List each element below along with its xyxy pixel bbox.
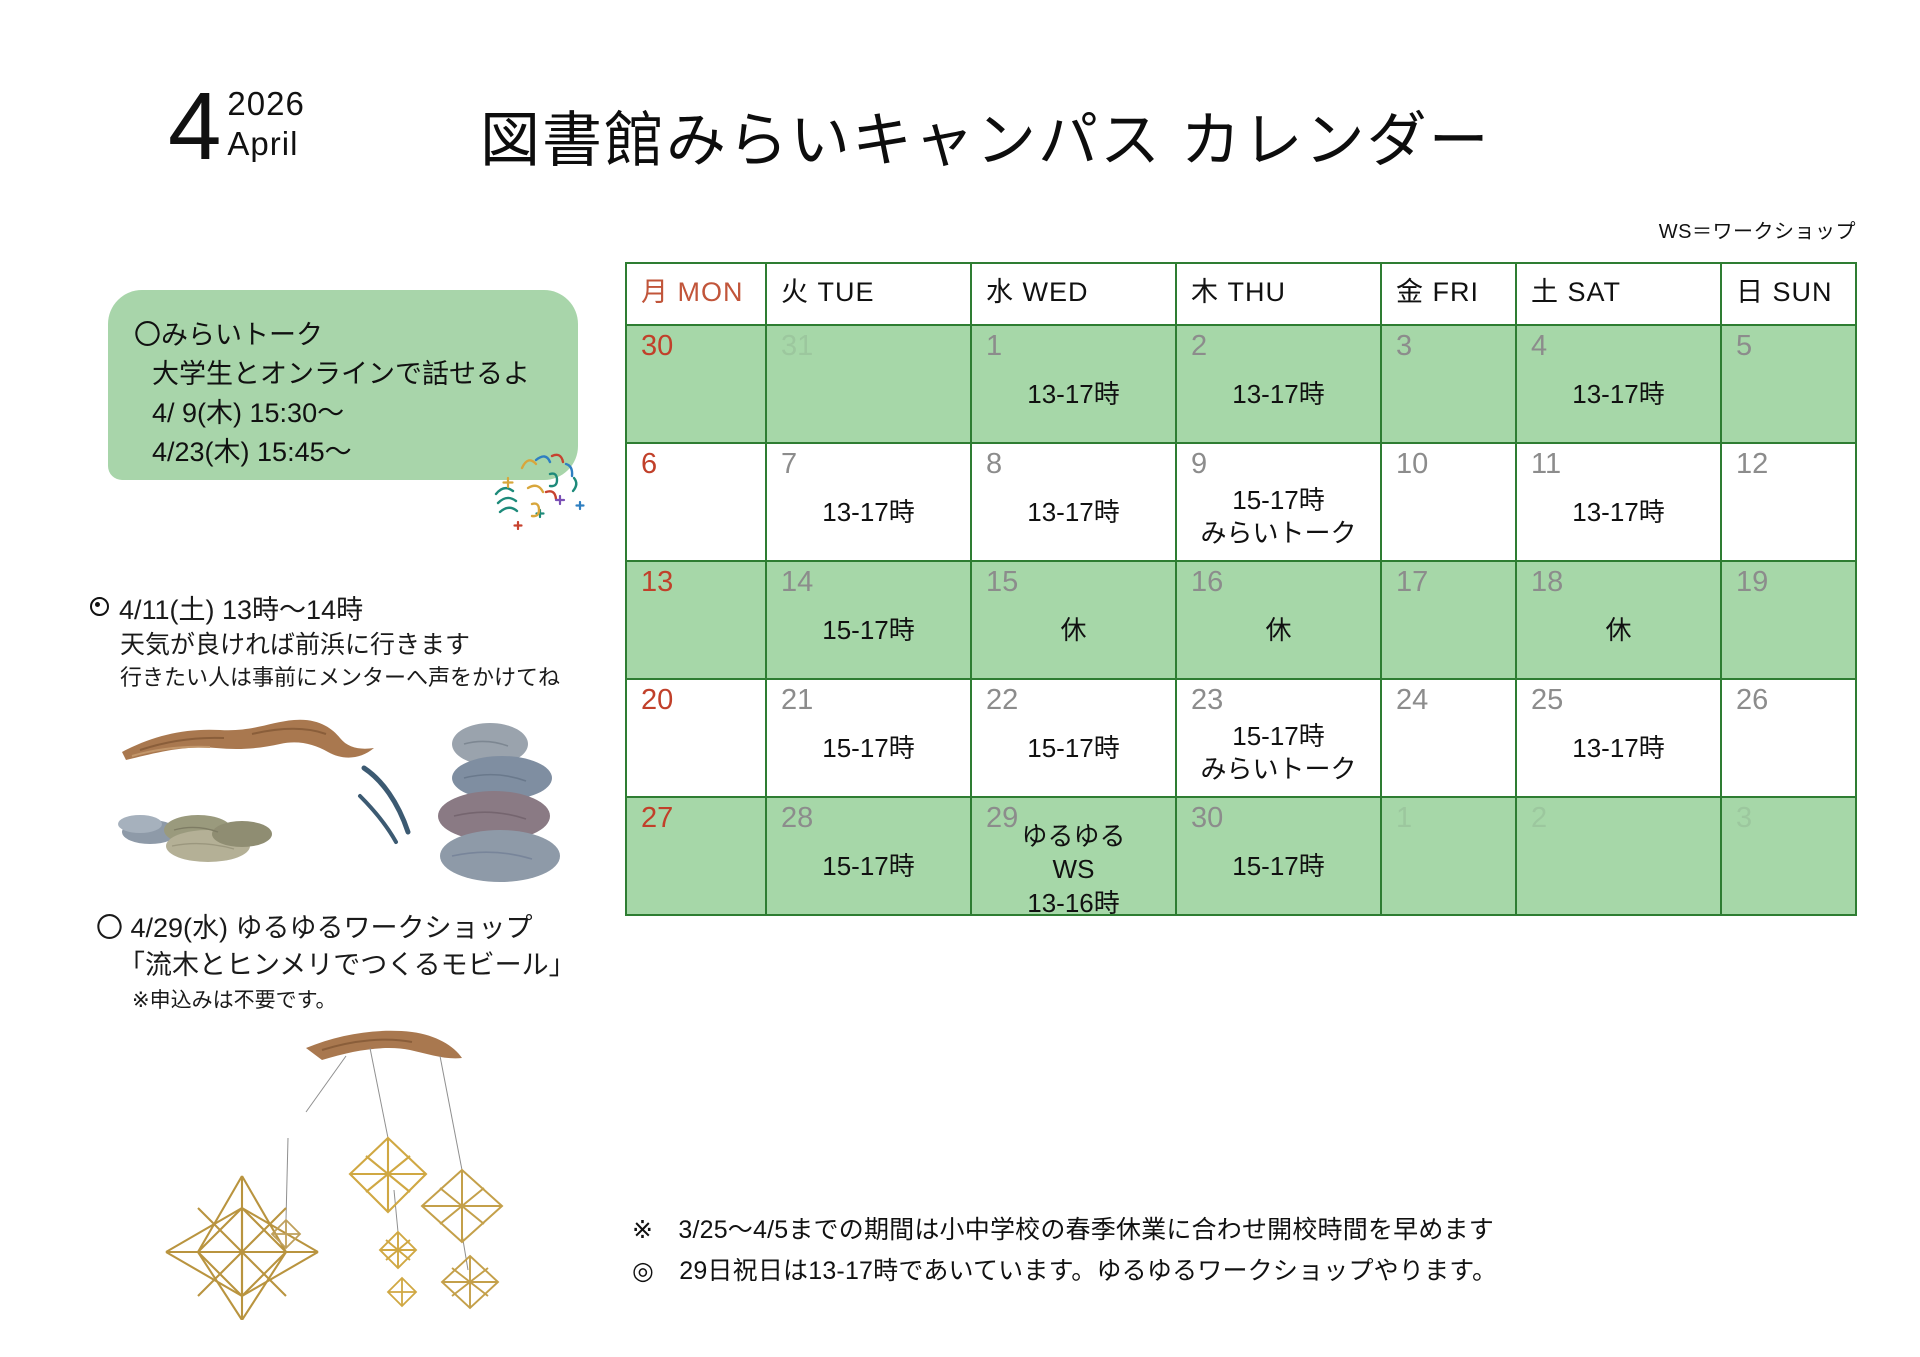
calendar-day-cell[interactable]: 213-17時 [1176, 325, 1381, 443]
weekday-header-tue: 火 TUE [766, 263, 971, 325]
day-event: 15-17時 [767, 850, 970, 883]
calendar-day-cell[interactable]: 6 [626, 443, 766, 561]
calendar-day-cell[interactable]: 24 [1381, 679, 1516, 797]
calendar-day-cell[interactable]: 5 [1721, 325, 1856, 443]
page-header: 4 2026 April 図書館みらいキャンパス カレンダー [0, 0, 1920, 200]
weekday-header-sat: 土 SAT [1516, 263, 1721, 325]
calendar-day-cell[interactable]: 20 [626, 679, 766, 797]
day-event-line: 15-17時 [773, 614, 964, 647]
calendar-day-cell[interactable]: 17 [1381, 561, 1516, 679]
calendar-week-row: 131415-17時15休16休1718休19 [626, 561, 1856, 679]
day-event: 休 [1177, 614, 1380, 647]
calendar-day-cell[interactable]: 2315-17時みらいトーク [1176, 679, 1381, 797]
calendar-week-row: 3031113-17時213-17時3413-17時5 [626, 325, 1856, 443]
calendar-day-cell[interactable]: 3015-17時 [1176, 797, 1381, 915]
driftwood-and-stones-illustration [112, 706, 572, 896]
day-event-line: 13-17時 [978, 378, 1169, 411]
month-name-label: April [227, 124, 304, 164]
day-event: 15-17時みらいトーク [1177, 720, 1380, 787]
day-event-line: 13-17時 [1523, 496, 1714, 529]
day-event-line: みらいトーク [1183, 753, 1374, 786]
day-event: 休 [1517, 614, 1720, 647]
day-event-line: 15-17時 [978, 732, 1169, 765]
day-event-line: 休 [1523, 614, 1714, 647]
day-event-line: 13-16時 [978, 887, 1169, 920]
day-event: 15-17時 [972, 732, 1175, 765]
day-number: 14 [781, 568, 813, 597]
calendar-day-cell[interactable]: 113-17時 [971, 325, 1176, 443]
day-number: 30 [1191, 804, 1223, 833]
day-number: 30 [641, 332, 673, 361]
calendar-day-cell[interactable]: 413-17時 [1516, 325, 1721, 443]
day-event-line: 休 [1183, 614, 1374, 647]
day-number: 5 [1736, 332, 1752, 361]
day-number: 3 [1396, 332, 1412, 361]
himmeli-mobile-illustration [110, 1020, 580, 1320]
weekday-header-mon: 月 MON [626, 263, 766, 325]
calendar-day-cell[interactable]: 915-17時みらいトーク [1176, 443, 1381, 561]
mirai-talk-desc: 大学生とオンラインで話せるよ [134, 355, 578, 394]
day-number: 16 [1191, 568, 1223, 597]
calendar-day-cell[interactable]: 1415-17時 [766, 561, 971, 679]
day-event: 15-17時 [767, 614, 970, 647]
day-event: 13-17時 [1517, 496, 1720, 529]
day-number: 19 [1736, 568, 1768, 597]
day-event: 15-17時 [1177, 850, 1380, 883]
calendar-day-cell[interactable]: 19 [1721, 561, 1856, 679]
footnote-line-2: ◎ 29日祝日は13-17時であいています。ゆるゆるワークショップやります。 [632, 1251, 1497, 1292]
day-event-line: 休 [978, 614, 1169, 647]
day-number: 9 [1191, 450, 1207, 479]
day-event: 13-17時 [1517, 732, 1720, 765]
day-event: 休 [972, 614, 1175, 647]
day-event-line: 15-17時 [773, 732, 964, 765]
day-number: 11 [1531, 450, 1561, 479]
day-number: 18 [1531, 568, 1563, 597]
day-number: 2 [1531, 804, 1547, 833]
calendar-day-cell[interactable]: 26 [1721, 679, 1856, 797]
day-event-line: 15-17時 [773, 850, 964, 883]
beach-outing-note: 行きたい人は事前にメンターへ声をかけてね [90, 663, 610, 694]
yuruyuru-workshop-block: 〇 4/29(水) ゆるゆるワークショップ 「流木とヒンメリでつくるモビール」 … [96, 910, 636, 1016]
day-number: 10 [1396, 450, 1428, 479]
calendar-footnotes: ※ 3/25〜4/5までの期間は小中学校の春季休業に合わせ開校時間を早めます ◎… [632, 1210, 1497, 1291]
calendar-day-cell[interactable]: 29ゆるゆるWS13-16時 [971, 797, 1176, 915]
month-english-block: 2026 April [227, 84, 304, 171]
workshop-note: ※申込みは不要です。 [96, 985, 636, 1017]
month-title-block: 4 2026 April [168, 84, 305, 171]
page-title: 図書館みらいキャンパス カレンダー [480, 92, 1491, 179]
day-number: 24 [1396, 686, 1428, 715]
day-number: 6 [641, 450, 657, 479]
day-event-line: 15-17時 [1183, 850, 1374, 883]
confetti-icon [488, 448, 592, 530]
mirai-talk-heading: 〇みらいトーク [134, 316, 578, 355]
beach-outing-block: 4/11(土) 13時〜14時 天気が良ければ前浜に行きます 行きたい人は事前に… [90, 592, 610, 694]
day-number: 4 [1531, 332, 1547, 361]
calendar-week-row: 272815-17時29ゆるゆるWS13-16時3015-17時123 [626, 797, 1856, 915]
weekday-header-sun: 日 SUN [1721, 263, 1856, 325]
weekday-header-fri: 金 FRI [1381, 263, 1516, 325]
day-event: 13-17時 [767, 496, 970, 529]
calendar-day-cell[interactable]: 2215-17時 [971, 679, 1176, 797]
calendar-day-cell[interactable]: 18休 [1516, 561, 1721, 679]
day-number: 8 [986, 450, 1002, 479]
year-label: 2026 [227, 84, 304, 124]
day-number: 21 [781, 686, 813, 715]
day-event-line: 15-17時 [1183, 484, 1374, 517]
calendar-day-cell[interactable]: 2815-17時 [766, 797, 971, 915]
bullseye-bullet-icon [90, 597, 109, 616]
day-number: 12 [1736, 450, 1768, 479]
calendar-week-row: 202115-17時2215-17時2315-17時みらいトーク242513-1… [626, 679, 1856, 797]
weekday-header-wed: 水 WED [971, 263, 1176, 325]
calendar-day-cell[interactable]: 2 [1516, 797, 1721, 915]
calendar-day-cell[interactable]: 713-17時 [766, 443, 971, 561]
calendar-day-cell[interactable]: 1 [1381, 797, 1516, 915]
day-event: 13-17時 [972, 496, 1175, 529]
calendar-day-cell[interactable]: 31 [766, 325, 971, 443]
day-number: 2 [1191, 332, 1207, 361]
day-event: 15-17時みらいトーク [1177, 484, 1380, 551]
day-event: 13-17時 [1517, 378, 1720, 411]
mirai-talk-date-1: 4/ 9(木) 15:30〜 [134, 394, 578, 433]
weekday-header-thu: 木 THU [1176, 263, 1381, 325]
day-event: 13-17時 [972, 378, 1175, 411]
day-event: ゆるゆるWS13-16時 [972, 820, 1175, 920]
calendar-day-cell[interactable]: 12 [1721, 443, 1856, 561]
beach-outing-date: 4/11(土) 13時〜14時 [119, 595, 363, 625]
day-event-line: WS [978, 853, 1169, 886]
day-number: 20 [641, 686, 673, 715]
day-number: 23 [1191, 686, 1223, 715]
day-event-line: ゆるゆる [978, 820, 1169, 853]
day-number: 28 [781, 804, 813, 833]
monthly-calendar: 月 MON 火 TUE 水 WED 木 THU 金 FRI 土 SAT 日 SU… [625, 262, 1857, 916]
calendar-day-cell[interactable]: 15休 [971, 561, 1176, 679]
day-event-line: 13-17時 [773, 496, 964, 529]
beach-outing-headline-row: 4/11(土) 13時〜14時 [90, 592, 610, 628]
day-event-line: 13-17時 [978, 496, 1169, 529]
footnote-line-1: ※ 3/25〜4/5までの期間は小中学校の春季休業に合わせ開校時間を早めます [632, 1210, 1497, 1251]
calendar-week-row: 6713-17時813-17時915-17時みらいトーク101113-17時12 [626, 443, 1856, 561]
workshop-headline: 〇 4/29(水) ゆるゆるワークショップ [96, 910, 636, 947]
day-number: 13 [641, 568, 673, 597]
day-number: 1 [986, 332, 1002, 361]
calendar-day-cell[interactable]: 1113-17時 [1516, 443, 1721, 561]
workshop-subtitle: 「流木とヒンメリでつくるモビール」 [96, 947, 636, 984]
day-number: 26 [1736, 686, 1768, 715]
day-number: 27 [641, 804, 673, 833]
day-number: 3 [1736, 804, 1752, 833]
calendar-header-row: 月 MON 火 TUE 水 WED 木 THU 金 FRI 土 SAT 日 SU… [626, 263, 1856, 325]
calendar-day-cell[interactable]: 2115-17時 [766, 679, 971, 797]
month-number: 4 [168, 84, 219, 170]
day-number: 17 [1396, 568, 1428, 597]
calendar-day-cell[interactable]: 10 [1381, 443, 1516, 561]
day-event-line: 13-17時 [1523, 732, 1714, 765]
calendar-day-cell[interactable]: 813-17時 [971, 443, 1176, 561]
calendar-day-cell[interactable]: 3 [1721, 797, 1856, 915]
calendar-day-cell[interactable]: 16休 [1176, 561, 1381, 679]
day-number: 1 [1396, 804, 1412, 833]
day-event: 13-17時 [1177, 378, 1380, 411]
day-number: 22 [986, 686, 1018, 715]
calendar-day-cell[interactable]: 27 [626, 797, 766, 915]
day-event-line: 15-17時 [1183, 720, 1374, 753]
calendar-day-cell[interactable]: 3 [1381, 325, 1516, 443]
calendar-day-cell[interactable]: 30 [626, 325, 766, 443]
ws-legend-note: WS＝ワークショップ [1659, 215, 1856, 244]
calendar-day-cell[interactable]: 13 [626, 561, 766, 679]
beach-outing-desc: 天気が良ければ前浜に行きます [90, 628, 610, 663]
day-event-line: 13-17時 [1523, 378, 1714, 411]
day-event-line: みらいトーク [1183, 517, 1374, 550]
day-number: 15 [986, 568, 1018, 597]
day-event: 15-17時 [767, 732, 970, 765]
day-event-line: 13-17時 [1183, 378, 1374, 411]
day-number: 31 [781, 332, 813, 361]
day-number: 7 [781, 450, 797, 479]
calendar-day-cell[interactable]: 2513-17時 [1516, 679, 1721, 797]
day-number: 25 [1531, 686, 1563, 715]
